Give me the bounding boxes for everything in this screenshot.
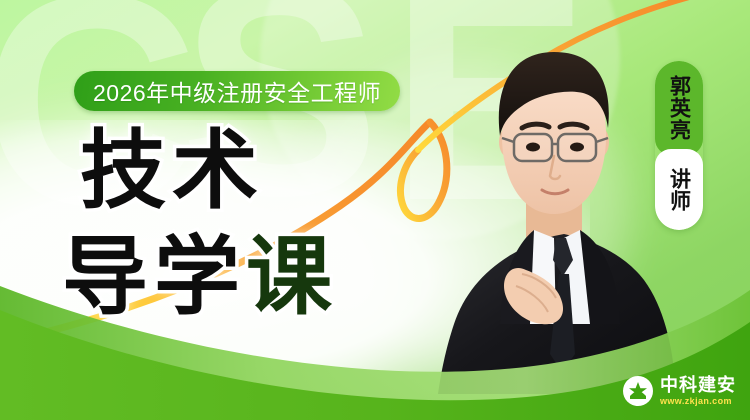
course-category-badge: 2026年中级注册安全工程师 (74, 71, 400, 111)
brand-logo: 中科建安 www.zkjan.com (623, 376, 736, 406)
star-mountain-icon (623, 376, 653, 406)
course-category-label: 2026年中级注册安全工程师 (93, 74, 381, 108)
instructor-badge: 郭英亮 讲师 (655, 61, 703, 230)
brand-name: 中科建安 (660, 376, 736, 394)
page-title-line1: 技术 (80, 128, 338, 216)
brand-logo-text: 中科建安 www.zkjan.com (660, 376, 736, 406)
instructor-name-section: 郭英亮 (655, 61, 703, 155)
brand-url: www.zkjan.com (660, 397, 736, 406)
course-poster: C S E 2026年中级注册安全工程师 (0, 0, 750, 420)
instructor-name: 郭英亮 (669, 75, 690, 141)
instructor-role: 讲师 (669, 168, 690, 212)
instructor-role-section: 讲师 (655, 149, 703, 230)
